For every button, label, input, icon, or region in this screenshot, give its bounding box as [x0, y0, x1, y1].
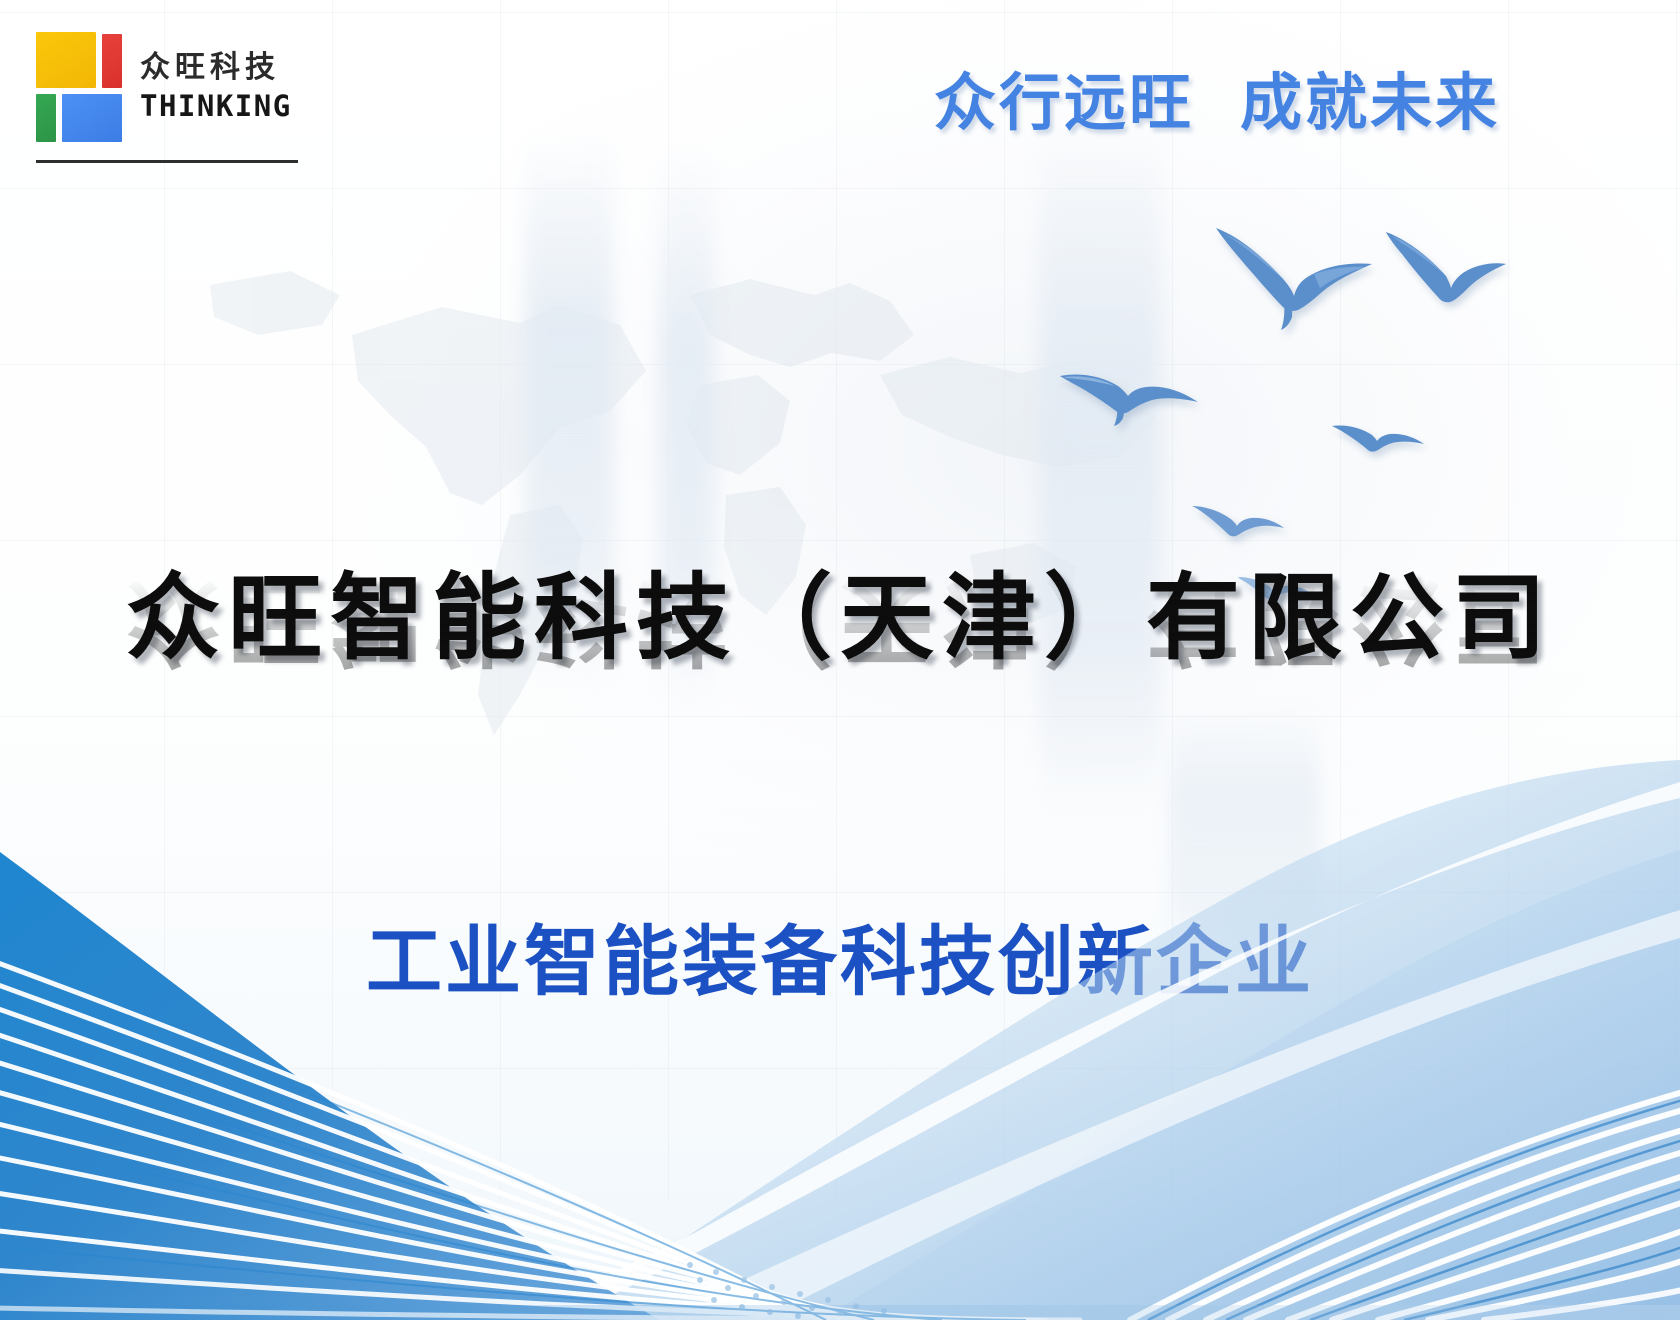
title-slide: 众旺科技 THINKING 众行远旺成就未来: [0, 0, 1680, 1320]
logo-mark-icon: [36, 32, 122, 142]
bottom-wave-decoration: [0, 760, 1680, 1320]
title-block: 众旺智能科技（天津）有限公司 众旺智能科技（天津）有限公司: [0, 566, 1680, 779]
logo-block-red-icon: [102, 34, 122, 88]
company-logo[interactable]: 众旺科技 THINKING: [36, 32, 292, 142]
slide-header: 众旺科技 THINKING 众行远旺成就未来: [0, 0, 1680, 190]
logo-block-blue-icon: [62, 94, 122, 142]
logo-block-yellow-icon: [36, 32, 96, 88]
header-tagline: 众行远旺成就未来: [934, 52, 1500, 142]
logo-underline-divider: [36, 160, 298, 163]
logo-block-green-icon: [36, 94, 56, 142]
logo-name-cn: 众旺科技: [140, 51, 292, 86]
tagline-part-2: 成就未来: [1240, 66, 1500, 139]
logo-name-en: THINKING: [140, 91, 292, 123]
tagline-part-1: 众行远旺: [934, 66, 1194, 139]
logo-wordmark: 众旺科技 THINKING: [140, 51, 292, 123]
main-title-reflection: 众旺智能科技（天津）有限公司: [0, 568, 1680, 673]
